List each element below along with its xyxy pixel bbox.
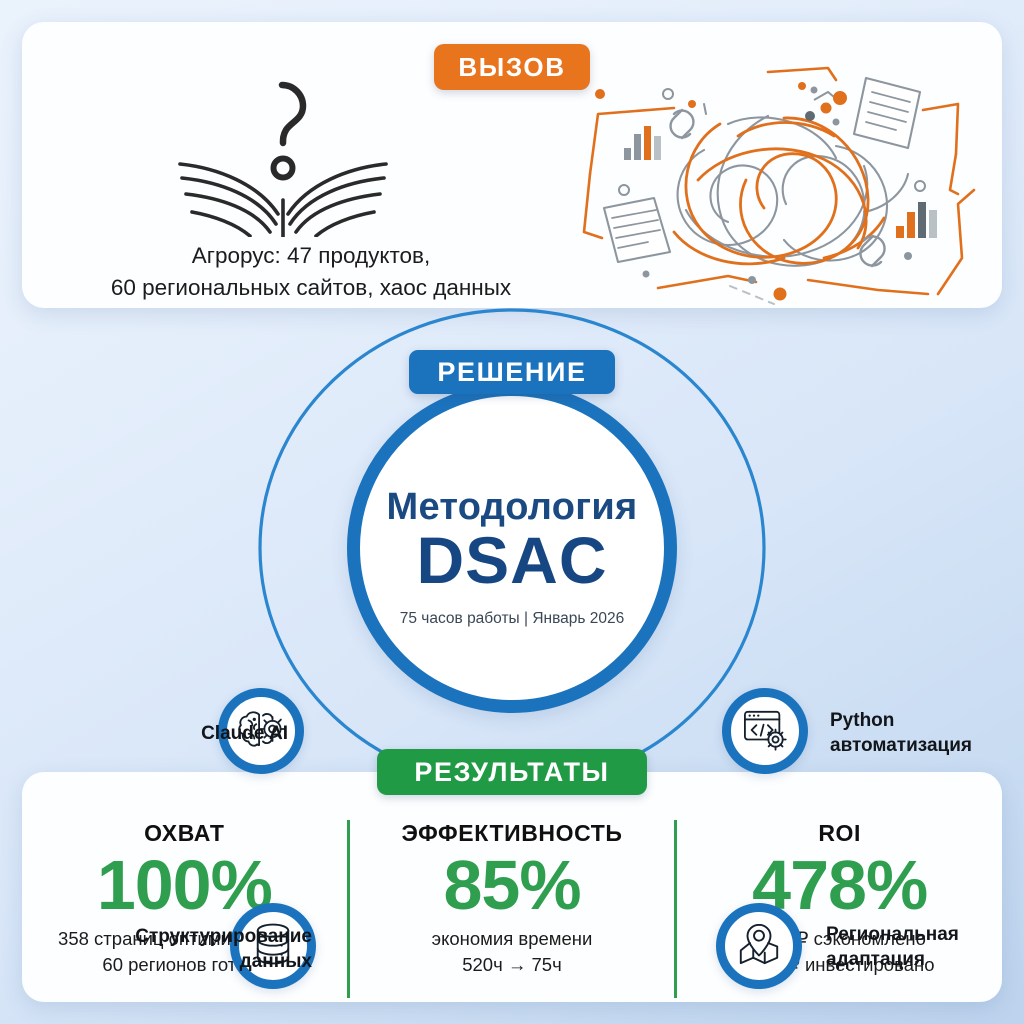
- node-regional-adaptation-label: Региональная адаптация: [826, 922, 1021, 972]
- node-data-structuring-label: Структурирование данных: [72, 924, 312, 974]
- solution-badge: РЕШЕНИЕ: [409, 350, 615, 394]
- node-label-line2: данных: [72, 949, 312, 974]
- result-value: 85%: [443, 848, 580, 922]
- field-question-icon: [170, 72, 396, 237]
- challenge-caption-line1: Агрорус: 47 продуктов,: [56, 240, 566, 272]
- challenge-card: ВЫЗОВ: [22, 22, 1002, 308]
- node-python-automation-label: Python автоматизация: [830, 708, 1020, 758]
- result-notes: экономия времени 520ч → 75ч: [432, 926, 593, 978]
- node-label-line1: Python: [830, 708, 1020, 733]
- challenge-badge: ВЫЗОВ: [434, 44, 590, 90]
- data-chaos-illustration: [578, 62, 1018, 317]
- infographic-stage: ВЫЗОВ: [0, 0, 1024, 1024]
- results-badge: РЕЗУЛЬТАТЫ: [377, 749, 647, 795]
- result-note-line1: экономия времени: [432, 926, 593, 952]
- node-label-line2: адаптация: [826, 947, 1021, 972]
- node-label-line1: Региональная: [826, 922, 1021, 947]
- challenge-caption: Агрорус: 47 продуктов, 60 региональных с…: [56, 240, 566, 304]
- node-label-line1: Claude AI: [88, 721, 288, 746]
- node-regional-adaptation[interactable]: [716, 903, 802, 989]
- solution-subtitle: 75 часов работы | Январь 2026: [400, 610, 625, 628]
- code-window-gear-icon: [741, 707, 789, 756]
- node-python-automation[interactable]: [722, 688, 808, 774]
- result-value: 100%: [97, 848, 272, 922]
- result-title: ОХВАТ: [144, 820, 224, 847]
- map-pin-icon: [736, 921, 782, 972]
- node-label-line2: автоматизация: [830, 733, 1020, 758]
- node-claude-ai-label: Claude AI: [88, 721, 288, 746]
- result-title: ROI: [818, 820, 861, 847]
- solution-center-disc: Методология DSAC 75 часов работы | Январ…: [347, 383, 677, 713]
- result-title: ЭФФЕКТИВНОСТЬ: [401, 820, 622, 847]
- solution-area: РЕШЕНИЕ Методология DSAC 75 часов работы…: [0, 300, 1024, 800]
- solution-acronym: DSAC: [416, 527, 607, 594]
- result-note-line2: 520ч → 75ч: [432, 952, 593, 978]
- result-column-efficiency: ЭФФЕКТИВНОСТЬ 85% экономия времени 520ч …: [347, 820, 675, 998]
- node-label-line1: Структурирование: [72, 924, 312, 949]
